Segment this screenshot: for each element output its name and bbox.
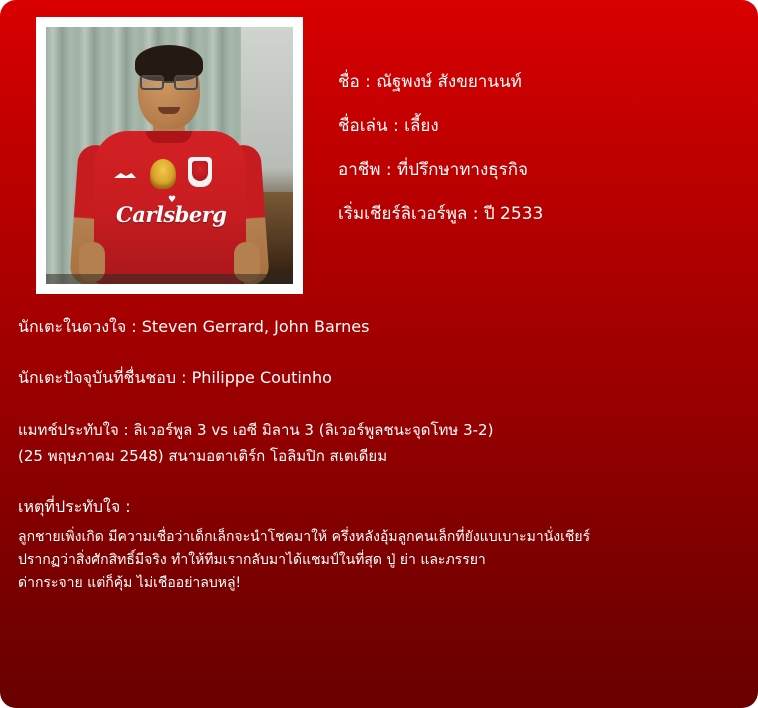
photo-floor — [46, 274, 293, 284]
fan-profile-card: ♥ Carlsberg ชื่อ : ณัฐพงษ์ สังขยานนท์ ชื… — [0, 0, 758, 708]
info-line-supporting-since: เริ่มเชียร์ลิเวอร์พูล : ปี 2533 — [338, 192, 738, 236]
reason-line-2: ปรากฏว่าสิ่งศักสิทธิ์มีจริง ทำให้ทีมเราก… — [18, 549, 743, 572]
favourite-match-block: แมทช์ประทับใจ : ลิเวอร์พูล 3 vs เอซี มิล… — [18, 417, 743, 469]
profile-photo-frame: ♥ Carlsberg — [36, 17, 303, 294]
glasses-icon — [140, 75, 198, 90]
favourite-player-current: นักเตะปัจจุบันที่ชื่นชอบ : Philippe Cout… — [18, 366, 743, 391]
reason-line-3: ด่ากระจาย แต่ก็คุ้ม ไม่เชืออย่าลบหลู่! — [18, 572, 743, 595]
jersey-brand-badge — [114, 169, 136, 181]
reason-line-1: ลูกชายเพิ่งเกิด มีความเชื่อว่าเด็กเล็กจะ… — [18, 526, 743, 549]
jersey-sponsor-text: Carlsberg — [116, 202, 226, 227]
glasses-bridge — [164, 81, 174, 83]
info-line-nickname: ชื่อเล่น : เลี้ยง — [338, 104, 738, 148]
person-mouth — [158, 107, 180, 114]
champions-league-badge — [150, 159, 176, 189]
glasses-right-lens — [174, 75, 198, 90]
photo-person: ♥ Carlsberg — [46, 27, 293, 284]
profile-body-block: นักเตะในดวงใจ : Steven Gerrard, John Bar… — [18, 315, 743, 595]
info-line-occupation: อาชีพ : ที่ปรึกษาทางธุรกิจ — [338, 148, 738, 192]
jersey-collar — [146, 131, 192, 143]
profile-photo: ♥ Carlsberg — [46, 27, 293, 284]
favourite-match-line-2: (25 พฤษภาคม 2548) สนามอตาเติร์ก โอลิมปิก… — [18, 443, 743, 469]
favourite-match-line-1: แมทช์ประทับใจ : ลิเวอร์พูล 3 vs เอซี มิล… — [18, 417, 743, 443]
reason-heading: เหตุที่ประทับใจ : — [18, 495, 743, 520]
info-line-name: ชื่อ : ณัฐพงษ์ สังขยานนท์ — [338, 60, 738, 104]
reason-block: เหตุที่ประทับใจ : ลูกชายเพิ่งเกิด มีความ… — [18, 495, 743, 595]
profile-info-block: ชื่อ : ณัฐพงษ์ สังขยานนท์ ชื่อเล่น : เลี… — [338, 60, 738, 236]
liverpool-crest-badge — [188, 157, 212, 187]
favourite-players-all-time: นักเตะในดวงใจ : Steven Gerrard, John Bar… — [18, 315, 743, 340]
glasses-left-lens — [140, 75, 164, 90]
